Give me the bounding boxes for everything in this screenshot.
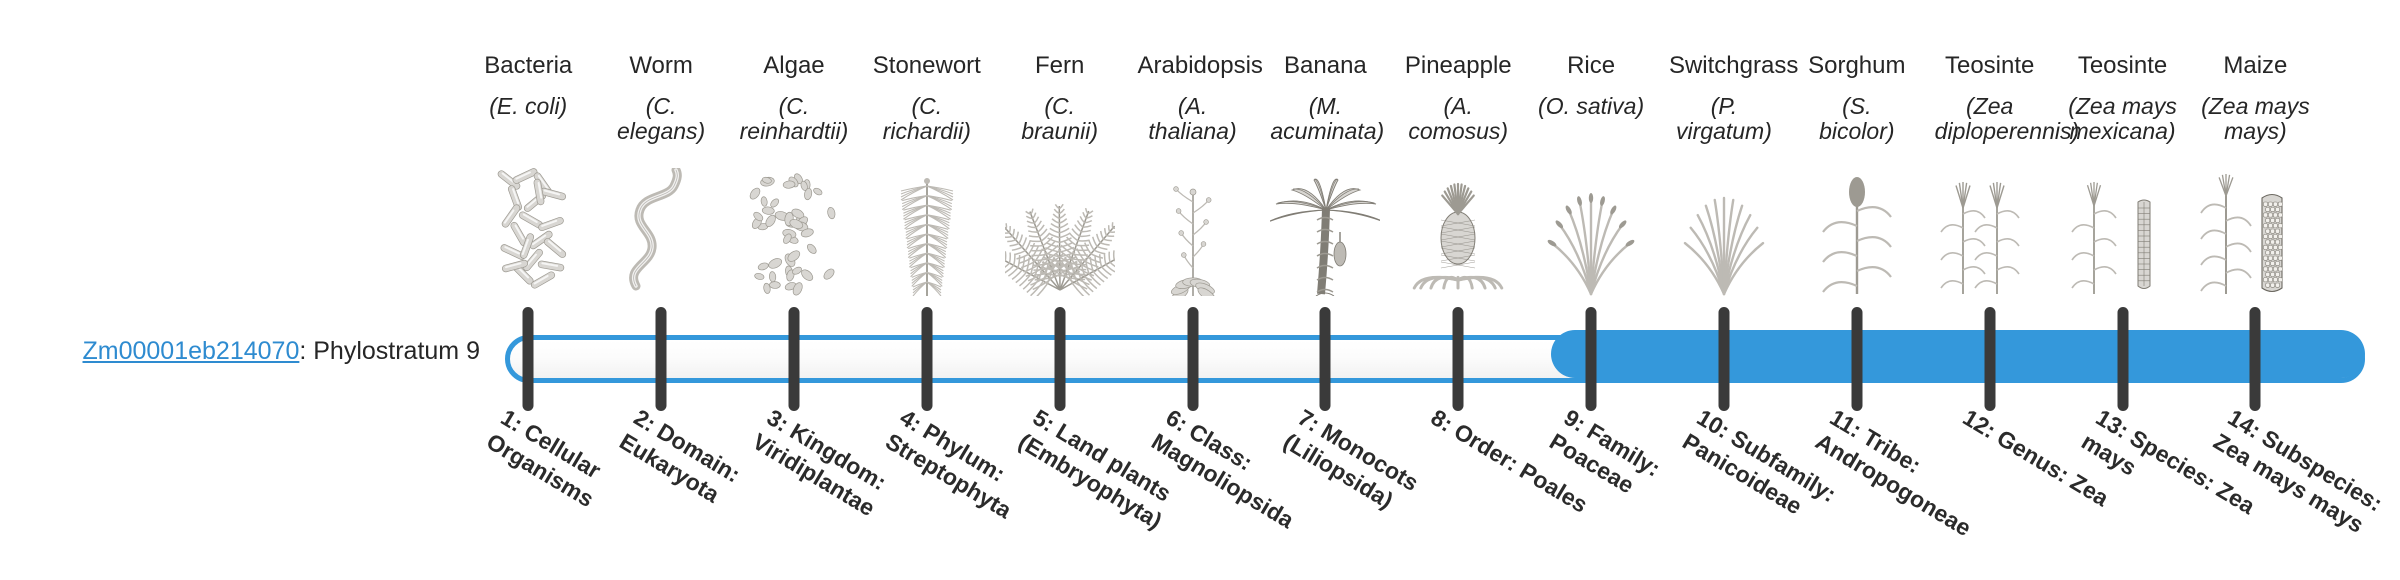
species-scientific-name: (Zea mays mays) [2200,94,2310,146]
species-column-banana: Banana(M. acuminata) [1270,52,1380,145]
species-column-teosinte: Teosinte(Zea mays mexicana) [2068,52,2178,145]
species-scientific-name: (M. acuminata) [1270,94,1380,146]
maize-illustration [2200,168,2310,296]
species-scientific-name: (C. reinhardtii) [739,94,849,146]
species-common-name: Rice [1536,52,1646,80]
stage-tick-8 [1453,307,1464,411]
stage-tick-9 [1586,307,1597,411]
species-scientific-name: (A. comosus) [1403,94,1513,146]
species-scientific-name: (E. coli) [473,94,583,120]
species-column-teosinte: Teosinte(Zea diploperennis) [1935,52,2045,145]
stage-tick-14 [2250,307,2261,411]
species-scientific-name: (Zea diploperennis) [1935,94,2045,146]
progress-fill [1551,330,2365,378]
species-common-name: Stonewort [872,52,982,80]
gene-phylostratum-label: Zm00001eb214070: Phylostratum 9 [40,336,480,366]
species-common-name: Switchgrass [1669,52,1779,80]
species-common-name: Algae [739,52,849,80]
species-scientific-name: (C. braunii) [1005,94,1115,146]
species-scientific-name: (S. bicolor) [1802,94,1912,146]
species-scientific-name: (C. richardii) [872,94,982,146]
species-scientific-name: (C. elegans) [606,94,716,146]
worm-illustration [606,168,716,296]
species-common-name: Banana [1270,52,1380,80]
stage-tick-2 [656,307,667,411]
stage-tick-10 [1718,307,1729,411]
species-common-name: Fern [1005,52,1115,80]
species-common-name: Arabidopsis [1138,52,1248,80]
species-column-fern: Fern(C. braunii) [1005,52,1115,145]
stage-tick-4 [921,307,932,411]
species-scientific-name: (O. sativa) [1536,94,1646,120]
species-common-name: Maize [2200,52,2310,80]
species-common-name: Bacteria [473,52,583,80]
stage-tick-7 [1320,307,1331,411]
stage-tick-1 [523,307,534,411]
stage-tick-6 [1187,307,1198,411]
phylostratum-progress-bar[interactable] [505,335,2365,383]
species-common-name: Pineapple [1403,52,1513,80]
switchgrass-illustration [1669,168,1779,296]
species-scientific-name: (Zea mays mexicana) [2068,94,2178,146]
species-column-worm: Worm(C. elegans) [606,52,716,145]
species-column-pineapple: Pineapple(A. comosus) [1403,52,1513,145]
teosinte-mexicana-illustration [2068,168,2178,296]
sorghum-illustration [1802,168,1912,296]
stage-tick-11 [1851,307,1862,411]
fern-illustration [1005,168,1115,296]
species-column-maize: Maize(Zea mays mays) [2200,52,2310,145]
pineapple-illustration [1403,168,1513,296]
species-scientific-name: (P. virgatum) [1669,94,1779,146]
stage-tick-5 [1054,307,1065,411]
species-common-name: Sorghum [1802,52,1912,80]
species-column-stonewort: Stonewort(C. richardii) [872,52,982,145]
phylostratum-visualization: Zm00001eb214070: Phylostratum 9 Bacteria… [0,0,2400,580]
stage-tick-12 [1984,307,1995,411]
gene-phylostratum-text: : Phylostratum 9 [299,337,480,365]
bacteria-illustration [473,168,583,296]
algae-illustration [739,168,849,296]
species-column-switchgrass: Switchgrass(P. virgatum) [1669,52,1779,145]
species-column-sorghum: Sorghum(S. bicolor) [1802,52,1912,145]
species-common-name: Worm [606,52,716,80]
stage-tick-3 [788,307,799,411]
gene-id-link[interactable]: Zm00001eb214070 [83,337,300,365]
arabidopsis-illustration [1138,168,1248,296]
species-column-bacteria: Bacteria(E. coli) [473,52,583,119]
species-column-algae: Algae(C. reinhardtii) [739,52,849,145]
stonewort-illustration [872,168,982,296]
stage-tick-13 [2117,307,2128,411]
species-scientific-name: (A. thaliana) [1138,94,1248,146]
species-column-arabidopsis: Arabidopsis(A. thaliana) [1138,52,1248,145]
species-common-name: Teosinte [2068,52,2178,80]
rice-illustration [1536,168,1646,296]
banana-illustration [1270,168,1380,296]
teosinte-diploperennis-illustration [1935,168,2045,296]
species-column-rice: Rice(O. sativa) [1536,52,1646,119]
species-common-name: Teosinte [1935,52,2045,80]
